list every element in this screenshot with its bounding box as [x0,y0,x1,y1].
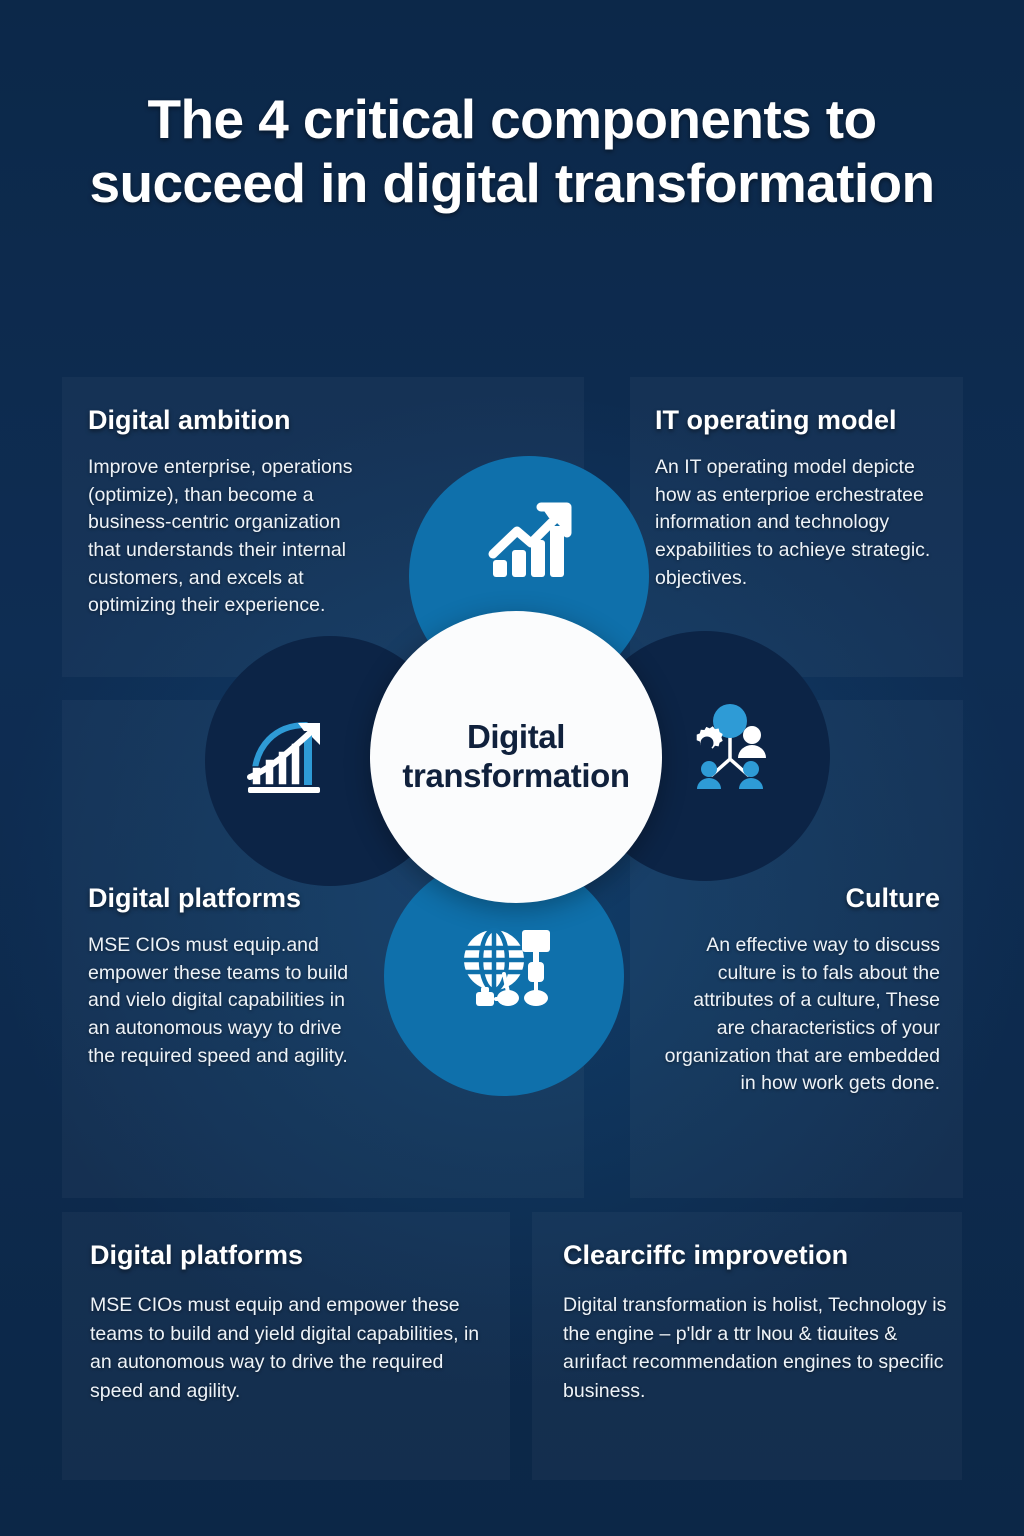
block-heading-it-operating-model: IT operating model [655,404,940,437]
card-digital-platforms: Digital platforms MSE CIOs must equip an… [90,1240,490,1406]
operating-model-network-icon [682,701,778,797]
center-circle[interactable]: Digital transformation [370,611,662,903]
bar-chart-arc-icon [240,711,332,803]
page-title: The 4 critical components to succeed in … [62,88,962,216]
card-heading-digital-platforms: Digital platforms [90,1240,490,1271]
center-label: Digital transformation [402,718,629,796]
center-label-line1: Digital [467,718,565,755]
globe-network-icon [460,926,554,1016]
four-component-diagram: Digital transformation [202,456,822,1096]
growth-chart-icon [487,498,573,584]
card-body-clearciffc-improvetion: Digital transformation is holist, Techno… [563,1291,955,1406]
center-label-line2: transformation [402,757,629,794]
block-heading-digital-ambition: Digital ambition [88,404,363,437]
card-clearciffc-improvetion: Clearciffc improvetion Digital transform… [563,1240,955,1406]
card-heading-clearciffc-improvetion: Clearciffc improvetion [563,1240,955,1271]
card-body-digital-platforms: MSE CIOs must equip and empower these te… [90,1291,490,1406]
